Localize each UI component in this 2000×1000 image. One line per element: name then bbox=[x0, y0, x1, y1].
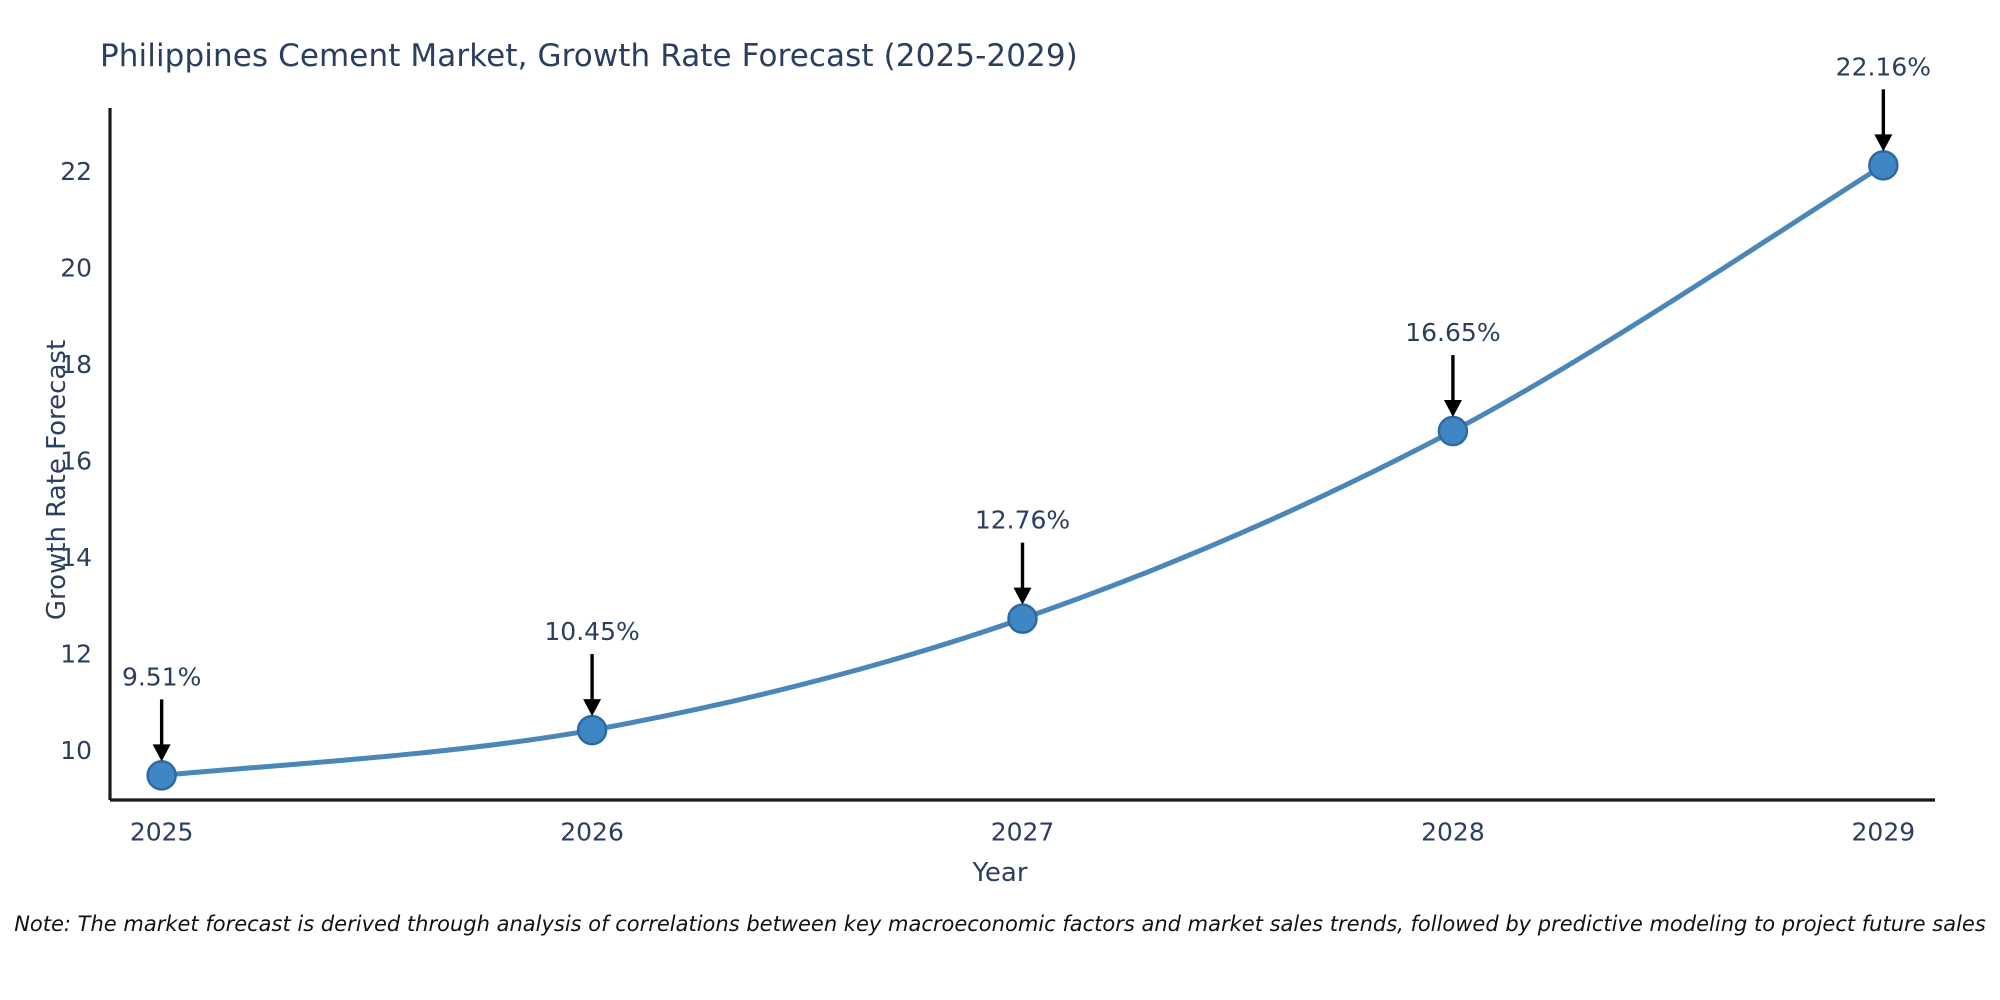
data-point-label: 16.65% bbox=[1405, 318, 1500, 347]
y-tick-label: 14 bbox=[60, 543, 92, 572]
y-tick-label: 22 bbox=[60, 157, 92, 186]
data-point-label: 22.16% bbox=[1836, 52, 1931, 81]
y-tick-label: 18 bbox=[60, 350, 92, 379]
x-axis-tick-labels: 20252026202720282029 bbox=[130, 817, 1915, 846]
annotation-arrow-head bbox=[1444, 400, 1462, 417]
data-point-label: 10.45% bbox=[544, 617, 639, 646]
data-point-marker bbox=[148, 761, 176, 789]
data-series-line bbox=[162, 165, 1884, 775]
data-point-marker bbox=[1439, 417, 1467, 445]
series-path bbox=[162, 165, 1884, 775]
y-tick-label: 10 bbox=[60, 736, 92, 765]
data-point-marker bbox=[578, 716, 606, 744]
x-tick-label: 2026 bbox=[560, 817, 624, 846]
annotation-arrow-head bbox=[153, 744, 171, 761]
data-point-marker bbox=[1009, 605, 1037, 633]
data-point-label: 9.51% bbox=[122, 662, 201, 691]
annotation-arrow-head bbox=[1014, 588, 1032, 605]
data-point-label: 12.76% bbox=[975, 506, 1070, 535]
y-tick-label: 16 bbox=[60, 446, 92, 475]
y-axis-tick-labels: 10121416182022 bbox=[60, 157, 92, 765]
annotation-arrow-head bbox=[1874, 134, 1892, 151]
y-tick-label: 12 bbox=[60, 639, 92, 668]
y-tick-label: 20 bbox=[60, 254, 92, 283]
data-point-annotations: 9.51%10.45%12.76%16.65%22.16% bbox=[122, 52, 1931, 761]
x-tick-label: 2025 bbox=[130, 817, 194, 846]
chart-footnote: Note: The market forecast is derived thr… bbox=[0, 912, 2000, 936]
annotation-arrow-head bbox=[583, 699, 601, 716]
chart-container: Philippines Cement Market, Growth Rate F… bbox=[0, 0, 2000, 1000]
x-tick-label: 2027 bbox=[991, 817, 1055, 846]
x-tick-label: 2029 bbox=[1852, 817, 1916, 846]
line-chart-plot: 10121416182022 20252026202720282029 9.51… bbox=[0, 0, 2000, 1000]
x-axis-title: Year bbox=[0, 858, 2000, 888]
x-tick-label: 2028 bbox=[1421, 817, 1485, 846]
data-point-markers bbox=[148, 151, 1898, 789]
data-point-marker bbox=[1869, 151, 1897, 179]
